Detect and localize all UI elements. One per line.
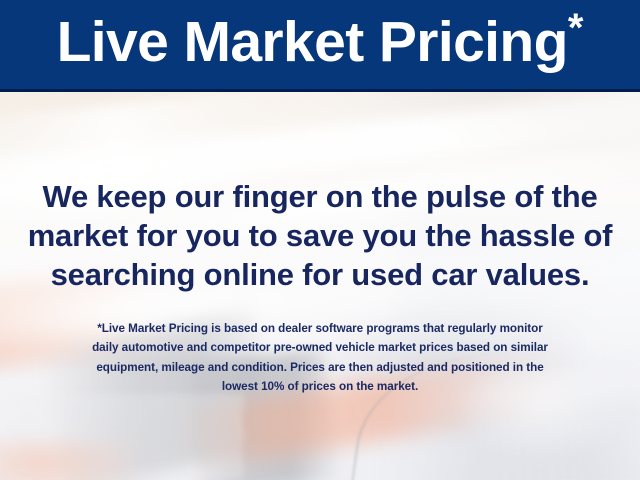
headline: We keep our finger on the pulse of the m… <box>0 177 640 294</box>
header-bar: Live Market Pricing* <box>0 0 640 92</box>
headline-line-3: searching online for used car values. <box>18 255 622 294</box>
page-title: Live Market Pricing* <box>57 14 584 75</box>
headline-line-2: market for you to save you the hassle of <box>18 216 622 255</box>
disclaimer-line-3: equipment, mileage and condition. Prices… <box>20 358 620 377</box>
headline-line-1: We keep our finger on the pulse of the <box>18 177 622 216</box>
disclaimer-line-2: daily automotive and competitor pre-owne… <box>20 338 620 357</box>
disclaimer: *Live Market Pricing is based on dealer … <box>0 319 640 396</box>
disclaimer-line-4: lowest 10% of prices on the market. <box>20 377 620 396</box>
live-market-pricing-banner: Live Market Pricing* We keep our finger … <box>0 0 640 480</box>
disclaimer-line-1: *Live Market Pricing is based on dealer … <box>20 319 620 338</box>
page-title-asterisk: * <box>568 6 584 50</box>
page-title-text: Live Market Pricing <box>57 10 568 74</box>
